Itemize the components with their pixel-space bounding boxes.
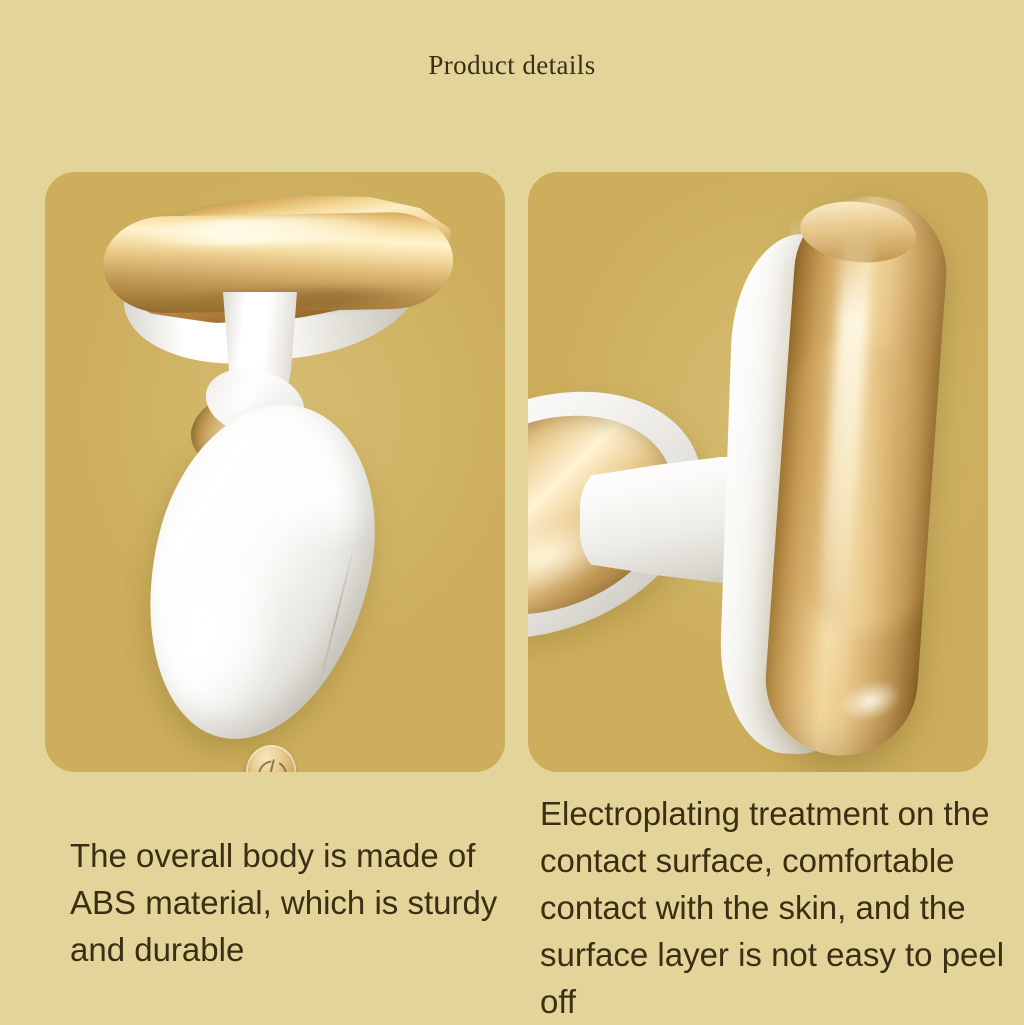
device-illustration-closeup (528, 172, 988, 772)
power-icon[interactable] (240, 740, 301, 772)
left-photo-caption: The overall body is made of ABS material… (70, 832, 520, 973)
product-details-page: Product details (0, 0, 1024, 1024)
device-body-white (115, 381, 406, 763)
body-highlight (155, 561, 296, 720)
page-title: Product details (0, 50, 1024, 81)
device-illustration-front (45, 172, 505, 772)
right-photo-caption: Electroplating treatment on the contact … (540, 790, 1010, 1025)
body-seam (317, 539, 357, 691)
right-product-photo[interactable] (528, 172, 988, 772)
left-product-photo[interactable] (45, 172, 505, 772)
